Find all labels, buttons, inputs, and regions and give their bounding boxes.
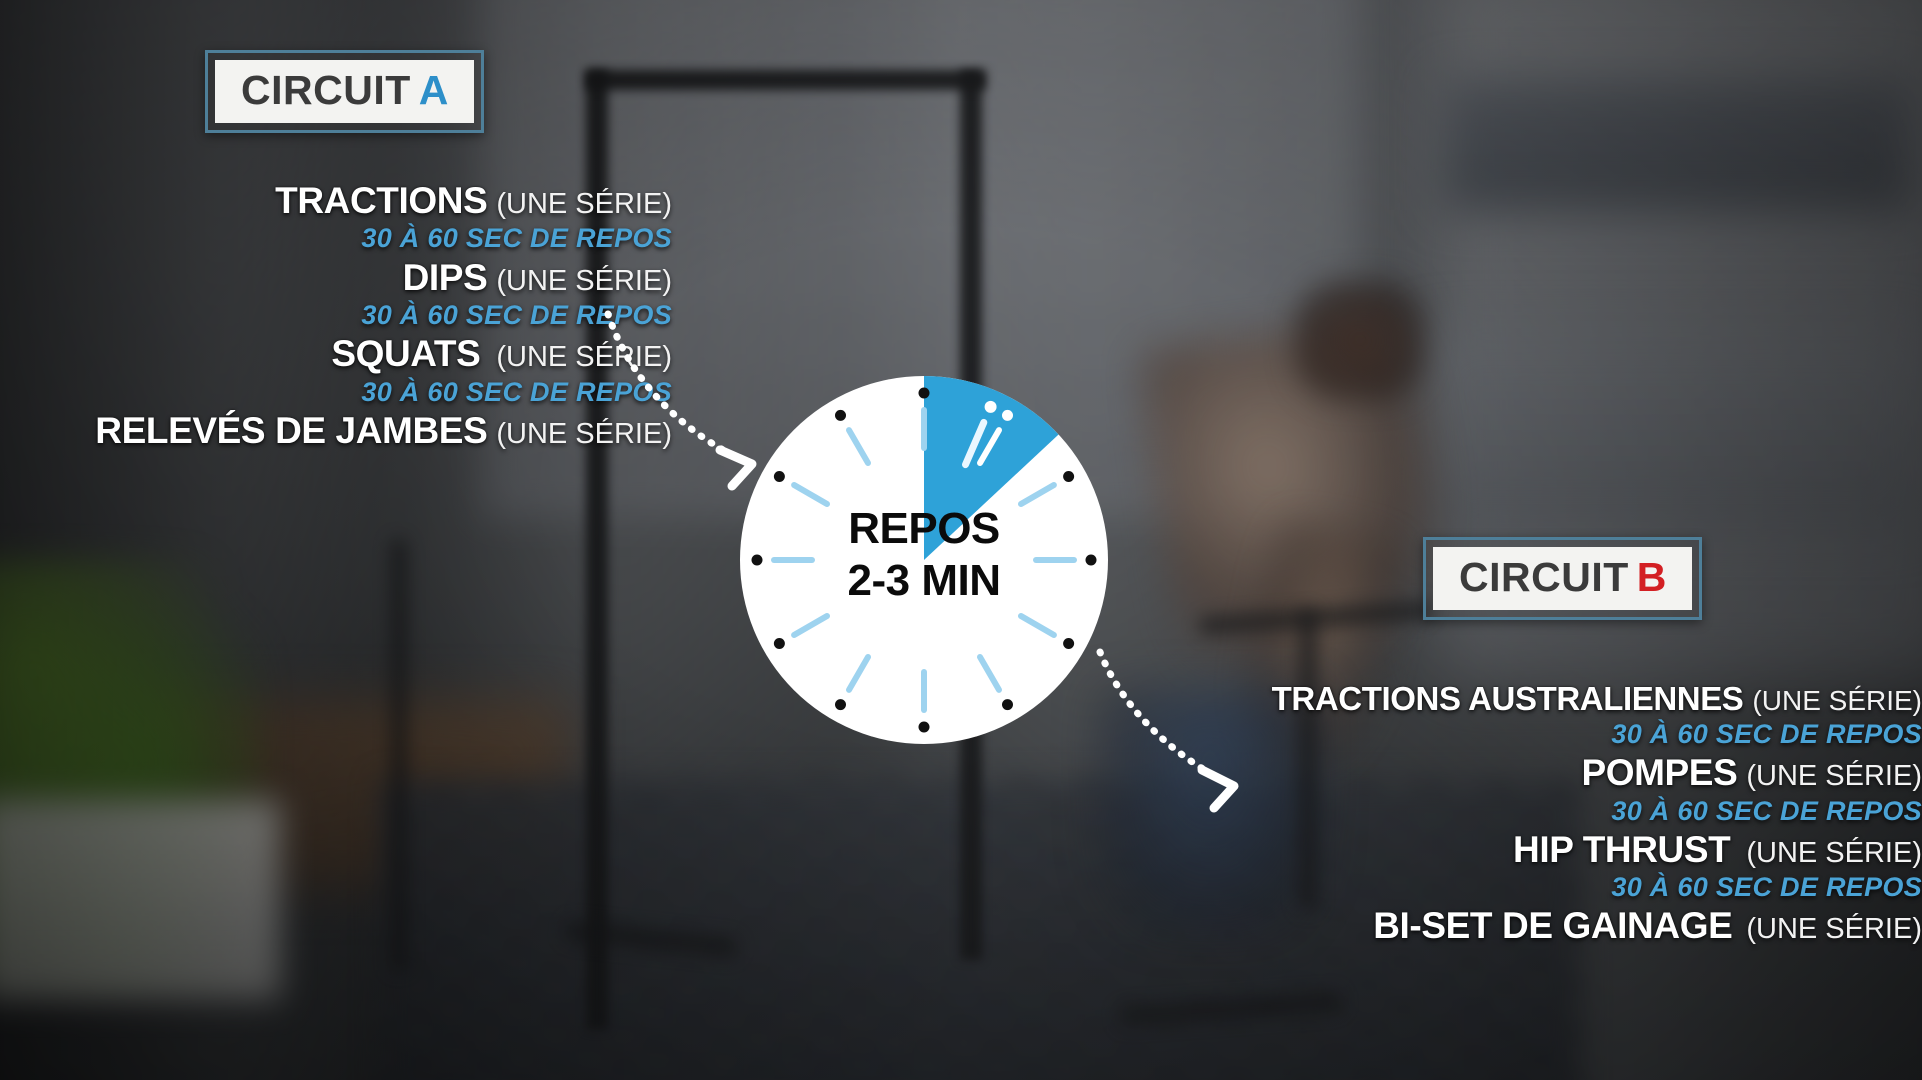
circuit-b-badge-letter: B: [1637, 554, 1667, 600]
list-item: 30 À 60 SEC DE REPOS: [0, 378, 672, 406]
list-item: 30 À 60 SEC DE REPOS: [0, 224, 672, 252]
list-item: RELEVÉS DE JAMBES(UNE SÉRIE): [0, 412, 672, 450]
list-item: TRACTIONS(UNE SÉRIE): [0, 182, 672, 220]
list-item: 30 À 60 SEC DE REPOS: [1240, 797, 1922, 825]
clock-tick-dot: [1002, 410, 1013, 421]
clock-tick-dot: [835, 699, 846, 710]
clock-tick-dot: [1002, 699, 1013, 710]
clock-tick-dot: [1063, 471, 1074, 482]
rest-text: 30 À 60 SEC DE REPOS: [1611, 796, 1922, 826]
circuit-a-exercise-list: TRACTIONS(UNE SÉRIE) 30 À 60 SEC DE REPO…: [0, 182, 672, 450]
exercise-sets: (UNE SÉRIE): [1746, 837, 1922, 869]
circuit-b-badge: CIRCUITB: [1423, 537, 1702, 620]
circuit-b-exercise-list: TRACTIONS AUSTRALIENNES(UNE SÉRIE) 30 À …: [1240, 682, 1922, 948]
exercise-name: TRACTIONS: [275, 180, 487, 221]
arrow-left-head: [720, 450, 752, 486]
circuit-a-badge-title: CIRCUIT: [241, 67, 411, 113]
clock-tick-dot: [835, 410, 846, 421]
exercise-name: POMPES: [1581, 752, 1737, 793]
clock-tick-dot: [774, 638, 785, 649]
clock-tick-dot: [919, 388, 930, 399]
clock-current-marker-dot: [985, 401, 997, 413]
clock-label-secondary: 2-3 MIN: [740, 556, 1108, 606]
list-item: BI-SET DE GAINAGE(UNE SÉRIE): [1240, 907, 1922, 945]
rest-text: 30 À 60 SEC DE REPOS: [1611, 872, 1922, 902]
rest-text: 30 À 60 SEC DE REPOS: [361, 223, 672, 253]
clock-label-primary: REPOS: [740, 504, 1108, 554]
circuit-a-badge-inner: CIRCUITA: [215, 60, 474, 123]
arrow-right-head: [1202, 770, 1234, 808]
circuit-a-badge: CIRCUITA: [205, 50, 484, 133]
circuit-b-badge-title: CIRCUIT: [1459, 554, 1629, 600]
rest-text: 30 À 60 SEC DE REPOS: [1611, 719, 1922, 749]
list-item: POMPES(UNE SÉRIE): [1240, 754, 1922, 792]
exercise-name: SQUATS: [331, 333, 480, 374]
exercise-sets: (UNE SÉRIE): [496, 265, 672, 297]
circuit-a-badge-letter: A: [419, 67, 449, 113]
arrow-circuit-a-to-clock: [600, 300, 820, 500]
circuit-b-badge-inner: CIRCUITB: [1433, 547, 1692, 610]
list-item: TRACTIONS AUSTRALIENNES(UNE SÉRIE): [1240, 682, 1922, 716]
list-item: DIPS(UNE SÉRIE): [0, 259, 672, 297]
video-overlay-stage: CIRCUITA TRACTIONS(UNE SÉRIE) 30 À 60 SE…: [0, 0, 1922, 1080]
exercise-name: TRACTIONS AUSTRALIENNES: [1272, 680, 1744, 717]
exercise-name: BI-SET DE GAINAGE: [1373, 905, 1732, 946]
exercise-sets: (UNE SÉRIE): [1752, 685, 1922, 716]
list-item: SQUATS(UNE SÉRIE): [0, 335, 672, 373]
list-item: 30 À 60 SEC DE REPOS: [1240, 873, 1922, 901]
exercise-name: DIPS: [403, 257, 488, 298]
list-item: 30 À 60 SEC DE REPOS: [1240, 720, 1922, 748]
arrow-left-dotted-path: [608, 314, 742, 460]
exercise-sets: (UNE SÉRIE): [1746, 913, 1922, 945]
list-item: 30 À 60 SEC DE REPOS: [0, 301, 672, 329]
clock-tick-dot: [1063, 638, 1074, 649]
exercise-sets: (UNE SÉRIE): [496, 188, 672, 220]
arrow-clock-to-circuit-b: [1090, 640, 1310, 830]
exercise-name: RELEVÉS DE JAMBES: [95, 410, 487, 451]
exercise-sets: (UNE SÉRIE): [1746, 760, 1922, 792]
clock-tick-dot: [919, 722, 930, 733]
exercise-name: HIP THRUST: [1513, 829, 1730, 870]
arrow-right-dotted-path: [1100, 652, 1222, 780]
list-item: HIP THRUST(UNE SÉRIE): [1240, 831, 1922, 869]
